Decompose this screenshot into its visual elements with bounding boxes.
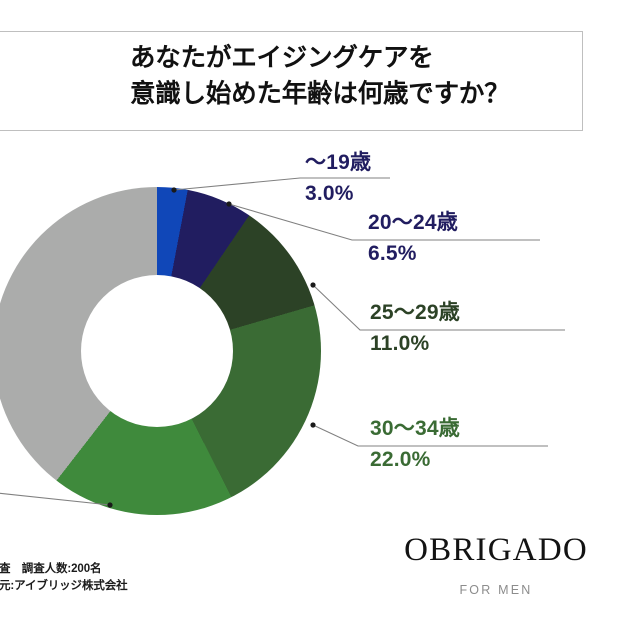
callout-category-label: 30〜34歳 bbox=[370, 418, 460, 440]
callout-30-34: 30〜34歳 22.0% bbox=[370, 418, 460, 471]
survey-footnote: ーネット調査 調査人数:200名 ニター提供元:アイブリッジ株式会社 bbox=[0, 561, 128, 594]
callout-percent-label: 22.0% bbox=[370, 449, 460, 471]
brand-name: OBRIGADO bbox=[401, 534, 591, 567]
brand-logo: OBRIGADO FOR MEN bbox=[401, 534, 591, 597]
donut-chart bbox=[0, 187, 321, 515]
callout-20-24: 20〜24歳 6.5% bbox=[368, 212, 458, 265]
callout-25-29: 25〜29歳 11.0% bbox=[370, 302, 460, 355]
page-title: あなたがエイジングケアを 意識し始めた年齢は何歳ですか？ bbox=[130, 40, 600, 112]
callout-percent-label: 6.5% bbox=[368, 243, 458, 265]
callout-19-and-under: 〜19歳 3.0% bbox=[305, 152, 371, 205]
callout-category-label: 20〜24歳 bbox=[368, 212, 458, 234]
slide-canvas: あなたがエイジングケアを 意識し始めた年齢は何歳ですか？ 〜19歳 3.0% 2… bbox=[0, 0, 640, 640]
brand-tagline: FOR MEN bbox=[401, 584, 591, 597]
callout-category-label: 25〜29歳 bbox=[370, 302, 460, 324]
donut-hole bbox=[81, 275, 233, 427]
callout-category-label: 〜19歳 bbox=[305, 152, 371, 174]
callout-percent-label: 3.0% bbox=[305, 183, 371, 205]
callout-percent-label: 11.0% bbox=[370, 333, 460, 355]
